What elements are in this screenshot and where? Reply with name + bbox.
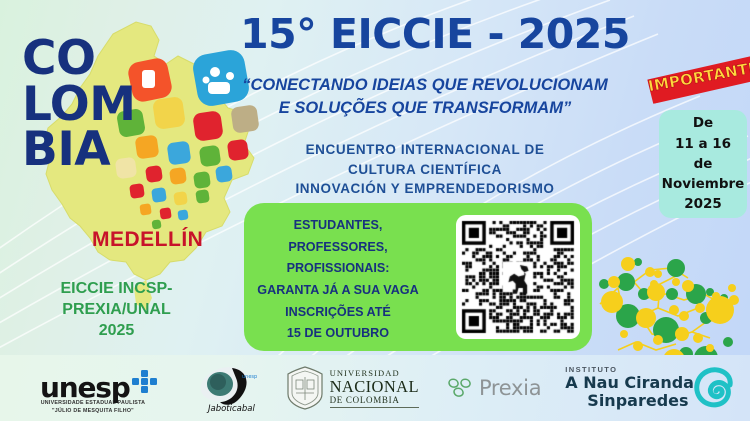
event-title: 15° EICCIE - 2025	[205, 10, 665, 58]
edition-label: EICCIE INCSP- PREXIA/UNAL 2025	[14, 278, 219, 341]
nau-line-1: INSTITUTO	[565, 366, 694, 374]
nau-spiral-icon	[692, 367, 734, 409]
unesp-tagline: UNIVERSIDADE ESTADUAL PAULISTA "JÚLIO DE…	[18, 400, 168, 416]
sponsor-logo-bar: unesp UNIVERSIDADE ESTADUAL PAULISTA "JÚ…	[0, 355, 750, 421]
universidad-nacional-de-colombia-logo: UNIVERSIDAD NACIONAL DE COLOMBIA	[286, 366, 419, 410]
event-poster: CO LOM BIA MEDELLÍN EICCIE INCSP- PREXIA…	[0, 0, 750, 421]
subtitle-line-2: CULTURA CIENTÍFICA	[240, 160, 610, 180]
date-line-2: 11 a 16	[675, 134, 731, 154]
prexia-mark-icon	[445, 375, 475, 401]
registration-panel: ESTUDANTES, PROFESSORES, PROFISSIONAIS: …	[244, 203, 592, 351]
unal-divider	[330, 407, 419, 408]
a-nau-ciranda-sinparedes-logo: INSTITUTO A Nau Ciranda Sinparedes	[565, 366, 734, 410]
jaboticabal-logo: unesp Jaboticabal	[198, 362, 264, 414]
subtitle-line-1: ENCUENTRO INTERNACIONAL DE	[240, 140, 610, 160]
importante-badge: IMPORTANTE	[646, 56, 750, 105]
unesp-mark-icon	[132, 370, 158, 396]
prexia-logo: Prexia	[445, 375, 541, 401]
unesp-tagline-line-2: "JÚLIO DE MESQUITA FILHO"	[18, 408, 168, 416]
unesp-tagline-line-1: UNIVERSIDADE ESTADUAL PAULISTA	[18, 400, 168, 408]
unal-line-2: NACIONAL	[330, 378, 419, 395]
cta-line-2: PROFESSORES,	[248, 237, 428, 259]
unal-line-3: DE COLOMBIA	[330, 395, 419, 405]
jaboticabal-unesp-text: unesp	[242, 374, 257, 380]
registration-text: ESTUDANTES, PROFESSORES, PROFISSIONAIS: …	[248, 215, 428, 345]
event-subtitle: ENCUENTRO INTERNACIONAL DE CULTURA CIENT…	[240, 140, 610, 199]
cta-line-1: ESTUDANTES,	[248, 215, 428, 237]
event-date-card: De 11 a 16 de Noviembre 2025	[659, 110, 747, 218]
cta-line-5: INSCRIÇÕES ATÉ	[248, 302, 428, 324]
page-title-colombia: CO LOM BIA	[22, 36, 222, 173]
date-line-3: de	[694, 154, 713, 174]
slogan-line-1: “CONECTANDO IDEIAS QUE REVOLUCIONAM	[215, 74, 635, 97]
nau-line-3: Sinparedes	[565, 392, 694, 410]
unesp-logo: unesp UNIVERSIDADE ESTADUAL PAULISTA "JÚ…	[40, 370, 158, 406]
registration-qr-code[interactable]	[456, 215, 580, 339]
edition-line-3: 2025	[14, 320, 219, 341]
colombia-line-2: LOM	[22, 82, 222, 128]
edition-line-2: PREXIA/UNAL	[14, 299, 219, 320]
cta-line-6: 15 DE OUTUBRO	[248, 323, 428, 345]
prexia-wordmark: Prexia	[479, 376, 541, 400]
date-line-4: Noviembre	[662, 174, 745, 194]
cta-line-4: GARANTA JÁ A SUA VAGA	[248, 280, 428, 302]
unesp-wordmark: unesp	[40, 374, 130, 402]
subtitle-line-3: INNOVACIÓN Y EMPRENDEDORISMO	[240, 179, 610, 199]
edition-line-1: EICCIE INCSP-	[14, 278, 219, 299]
colombia-line-1: CO	[22, 36, 222, 82]
colombia-line-3: BIA	[22, 127, 222, 173]
network-nodes-graphic	[588, 238, 750, 370]
cta-line-3: PROFISSIONAIS:	[248, 258, 428, 280]
event-slogan: “CONECTANDO IDEIAS QUE REVOLUCIONAM E SO…	[215, 74, 635, 121]
unal-crest-icon	[286, 366, 324, 410]
jaboticabal-wordmark: Jaboticabal	[206, 404, 255, 414]
nau-line-2: A Nau Ciranda	[565, 374, 694, 392]
date-line-5: 2025	[684, 194, 722, 214]
date-line-1: De	[693, 113, 713, 133]
city-label: MEDELLÍN	[92, 228, 203, 252]
jaboticabal-mark-icon: unesp Jaboticabal	[198, 362, 264, 414]
slogan-line-2: E SOLUÇÕES QUE TRANSFORMAM”	[215, 97, 635, 120]
